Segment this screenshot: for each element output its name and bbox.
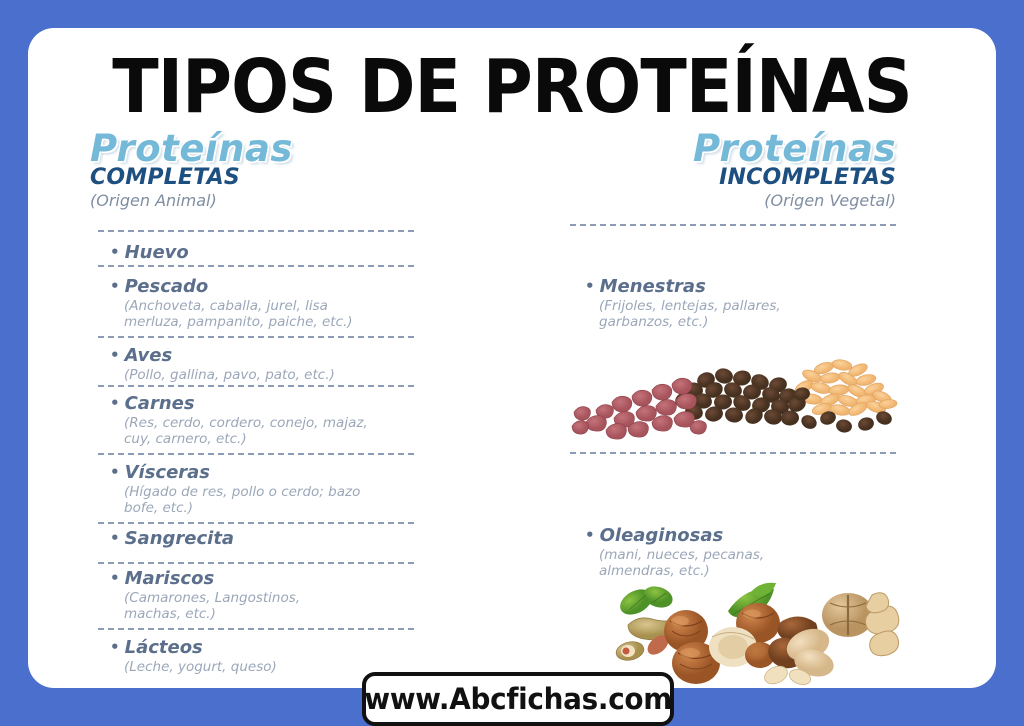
bullet-icon: • bbox=[110, 638, 120, 656]
bullet-icon: • bbox=[110, 277, 120, 295]
bullet-icon: • bbox=[110, 394, 120, 412]
left-rule-1 bbox=[98, 265, 414, 267]
item-desc: (Hígado de res, pollo o cerdo; bazo bofe… bbox=[110, 484, 360, 517]
bullet-icon: • bbox=[110, 529, 120, 547]
left-rule-5 bbox=[98, 522, 414, 524]
item-name: •Mariscos bbox=[110, 568, 300, 589]
item-desc: (Pollo, gallina, pavo, pato, etc.) bbox=[110, 367, 335, 383]
item-desc: (Camarones, Langostinos, machas, etc.) bbox=[110, 590, 300, 623]
left-rule-top bbox=[98, 230, 414, 232]
right-rule-top bbox=[570, 224, 896, 226]
left-rule-7 bbox=[98, 628, 414, 630]
item-name: •Oleaginosas bbox=[585, 525, 764, 546]
left-rule-6 bbox=[98, 562, 414, 564]
list-item: •Vísceras (Hígado de res, pollo o cerdo;… bbox=[110, 462, 360, 517]
beans-illustration bbox=[566, 352, 902, 448]
item-name: •Vísceras bbox=[110, 462, 360, 483]
right-kind-label: INCOMPLETAS bbox=[693, 165, 896, 190]
item-desc: (Anchoveta, caballa, jurel, lisa merluza… bbox=[110, 298, 353, 331]
left-rule-3 bbox=[98, 385, 414, 387]
left-rule-4 bbox=[98, 453, 414, 455]
item-name: •Sangrecita bbox=[110, 528, 234, 549]
bullet-icon: • bbox=[110, 346, 120, 364]
bullet-icon: • bbox=[110, 243, 120, 261]
right-rule-1 bbox=[570, 452, 896, 454]
list-item: •Sangrecita bbox=[110, 528, 234, 549]
item-name: •Lácteos bbox=[110, 637, 277, 658]
left-rule-2 bbox=[98, 336, 414, 338]
list-item: •Menestras (Frijoles, lentejas, pallares… bbox=[585, 276, 781, 331]
left-column-header: Proteínas COMPLETAS (Origen Animal) bbox=[90, 130, 293, 210]
right-script-label: Proteínas bbox=[693, 130, 896, 167]
item-name: •Huevo bbox=[110, 242, 189, 263]
site-logo[interactable]: www.Abcfichas.com bbox=[362, 672, 674, 726]
page-title: TIPOS DE PROTEÍNAS bbox=[41, 44, 983, 130]
site-url: www.Abcfichas.com bbox=[364, 682, 672, 716]
item-desc: (Leche, yogurt, queso) bbox=[110, 659, 277, 675]
bullet-icon: • bbox=[110, 569, 120, 587]
list-item: •Mariscos (Camarones, Langostinos, macha… bbox=[110, 568, 300, 623]
list-item: •Aves (Pollo, gallina, pavo, pato, etc.) bbox=[110, 345, 335, 383]
item-desc: (Res, cerdo, cordero, conejo, majaz, cuy… bbox=[110, 415, 368, 448]
item-desc: (Frijoles, lentejas, pallares, garbanzos… bbox=[585, 298, 781, 331]
item-name: •Menestras bbox=[585, 276, 781, 297]
bullet-icon: • bbox=[110, 463, 120, 481]
nuts-illustration bbox=[600, 575, 900, 685]
list-item: •Carnes (Res, cerdo, cordero, conejo, ma… bbox=[110, 393, 368, 448]
item-name: •Aves bbox=[110, 345, 335, 366]
item-name: •Pescado bbox=[110, 276, 353, 297]
left-script-label: Proteínas bbox=[90, 130, 293, 167]
right-column-header: Proteínas INCOMPLETAS (Origen Vegetal) bbox=[693, 130, 896, 210]
item-name: •Carnes bbox=[110, 393, 368, 414]
left-origin-label: (Origen Animal) bbox=[90, 191, 293, 210]
bullet-icon: • bbox=[585, 277, 595, 295]
list-item: •Lácteos (Leche, yogurt, queso) bbox=[110, 637, 277, 675]
right-origin-label: (Origen Vegetal) bbox=[693, 191, 896, 210]
list-item: •Oleaginosas (mani, nueces, pecanas, alm… bbox=[585, 525, 764, 580]
bullet-icon: • bbox=[585, 526, 595, 544]
list-item: •Huevo bbox=[110, 242, 189, 263]
list-item: •Pescado (Anchoveta, caballa, jurel, lis… bbox=[110, 276, 353, 331]
infographic-page: TIPOS DE PROTEÍNAS Proteínas COMPLETAS (… bbox=[0, 0, 1024, 725]
